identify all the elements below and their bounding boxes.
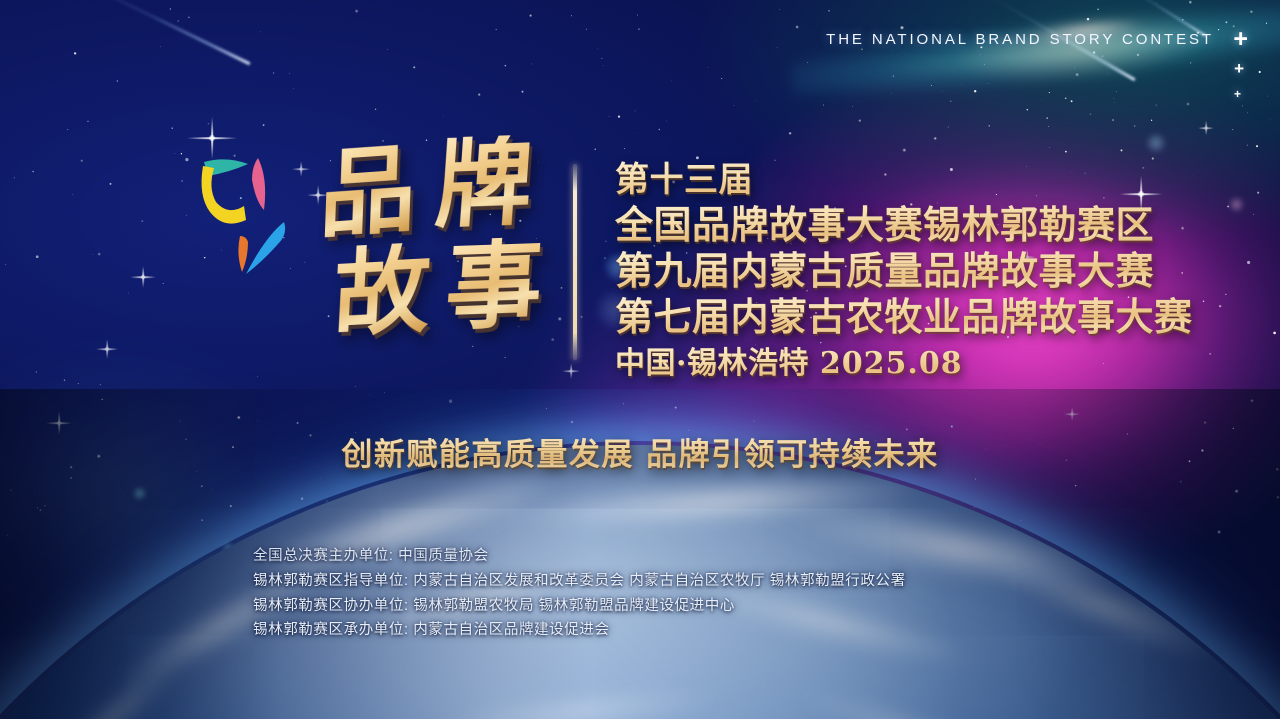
brand-logo-mark-icon	[196, 150, 292, 278]
date-text: 2025.08	[820, 346, 963, 381]
contest-eyebrow-title: THE NATIONAL BRAND STORY CONTEST	[826, 31, 1214, 48]
calligraphy-char: 故	[331, 242, 432, 343]
organizer-line: 全国总决赛主办单位: 中国质量协会	[253, 544, 906, 569]
organizer-line: 锡林郭勒赛区指导单位: 内蒙古自治区发展和改革委员会 内蒙古自治区农牧厅 锡林郭…	[253, 569, 906, 594]
slogan-text: 创新赋能高质量发展 品牌引领可持续未来	[0, 429, 1280, 474]
place-text: 中国·锡林浩特	[615, 346, 809, 381]
headline-edition: 第十三届	[615, 158, 1235, 202]
vertical-divider	[573, 164, 577, 360]
organizer-line: 锡林郭勒赛区承办单位: 内蒙古自治区品牌建设促进会	[253, 618, 906, 643]
plus-decor-icon: +	[1234, 60, 1244, 77]
poster-canvas: THE NATIONAL BRAND STORY CONTEST + + + 品…	[0, 0, 1280, 719]
organizers-block: 全国总决赛主办单位: 中国质量协会 锡林郭勒赛区指导单位: 内蒙古自治区发展和改…	[253, 544, 906, 643]
calligraphy-char: 事	[442, 236, 545, 335]
calligraphy-char: 品	[318, 141, 418, 243]
headline-block: 第十三届 全国品牌故事大赛锡林郭勒赛区 第九届内蒙古质量品牌故事大赛 第七届内蒙…	[615, 158, 1235, 386]
calligraphy-char: 牌	[432, 134, 535, 233]
headline-national-region: 全国品牌故事大赛锡林郭勒赛区	[615, 202, 1235, 248]
plus-decor-icon: +	[1234, 88, 1241, 100]
headline-place-date: 中国·锡林浩特 2025.08	[615, 342, 1235, 386]
headline-inner-mongolia-agri: 第七届内蒙古农牧业品牌故事大赛	[615, 294, 1235, 340]
organizer-line: 锡林郭勒赛区协办单位: 锡林郭勒盟农牧局 锡林郭勒盟品牌建设促进中心	[253, 594, 906, 619]
plus-decor-icon: +	[1233, 27, 1248, 52]
headline-inner-mongolia-quality: 第九届内蒙古质量品牌故事大赛	[615, 248, 1235, 294]
calligraphy-title: 品 牌 故 事	[318, 148, 550, 360]
